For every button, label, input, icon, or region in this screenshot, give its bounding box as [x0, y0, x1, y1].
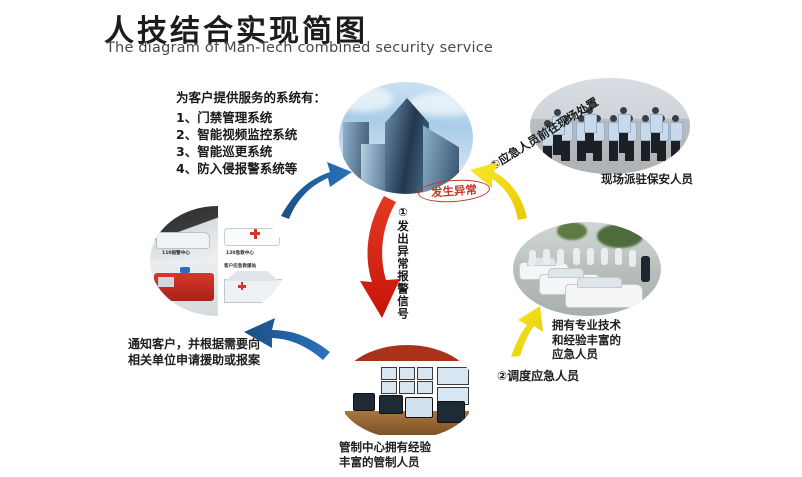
- arrow-control-to-notify: [244, 318, 330, 360]
- arrow-anomaly-signal: [360, 196, 400, 318]
- arrow-dispatch-to-scene: [470, 162, 527, 220]
- arrow-dispatch-staff: [511, 306, 543, 357]
- arrow-left-to-building: [281, 162, 352, 219]
- flow-arrows: [0, 0, 802, 477]
- diagram-canvas: 人技结合实现简图 The diagram of Man-Tech combine…: [0, 0, 802, 477]
